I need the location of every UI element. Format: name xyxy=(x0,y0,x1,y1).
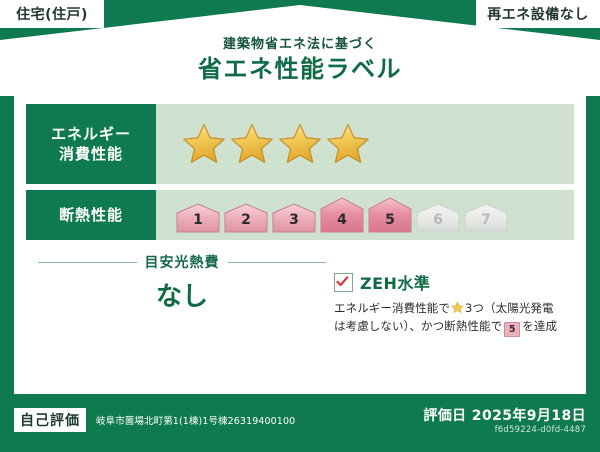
insulation-grade-2: 2 xyxy=(224,203,268,233)
insulation-performance-value: 1234567 xyxy=(156,190,574,240)
insulation-grade-1: 1 xyxy=(176,203,220,233)
insulation-grade-7: 7 xyxy=(464,203,508,233)
energy-key-line2: 消費性能 xyxy=(51,144,131,164)
zeh-description: エネルギー消費性能で3つ（太陽光発電 は考慮しない）、かつ断熱性能で5を達成 xyxy=(334,300,578,337)
badge-building-type-label: 住宅(住戸) xyxy=(16,4,88,24)
star-icon xyxy=(278,122,322,166)
star-icon-inline xyxy=(451,301,464,314)
insulation-key-label: 断熱性能 xyxy=(59,205,123,225)
zeh-title: ZEH水準 xyxy=(360,270,430,294)
insulation-grade-scale: 1234567 xyxy=(176,197,508,233)
insulation-grade-3: 3 xyxy=(272,203,316,233)
energy-key-line1: エネルギー xyxy=(51,124,131,144)
insulation-grade-label: 7 xyxy=(464,212,508,228)
insulation-grade-label: 4 xyxy=(320,212,364,228)
evaluation-date-value: 2025年9月18日 xyxy=(472,408,586,424)
insulation-grade-label: 5 xyxy=(368,212,412,228)
zeh-desc-star-count: 3つ（太陽光発電 xyxy=(465,301,554,315)
title-block: 建築物省エネ法に基づく 省エネ性能ラベル xyxy=(0,38,600,84)
star-rating xyxy=(182,122,370,166)
star-icon xyxy=(230,122,274,166)
badge-renewable-energy-label: 再エネ設備なし xyxy=(487,4,589,24)
heading-rule-right xyxy=(228,262,327,263)
insulation-grade-6: 6 xyxy=(416,203,460,233)
estimated-utility-cost-heading: 目安光熱費 xyxy=(38,252,326,272)
zeh-desc-part3: を達成 xyxy=(522,319,557,333)
badge-renewable-energy: 再エネ設備なし xyxy=(476,0,600,28)
insulation-grade-5: 5 xyxy=(368,197,412,233)
evaluation-date-label: 評価日 xyxy=(423,408,466,424)
insulation-performance-row: 断熱性能 1234567 xyxy=(26,190,574,240)
energy-performance-row: エネルギー 消費性能 xyxy=(26,104,574,184)
property-address: 岐阜市薗場北町第1(1棟)1号棟26319400100 xyxy=(96,413,295,427)
badge-building-type: 住宅(住戸) xyxy=(0,0,104,28)
energy-performance-value xyxy=(156,104,574,184)
insulation-performance-key: 断熱性能 xyxy=(26,190,156,240)
evaluation-type-badge: 自己評価 xyxy=(14,408,86,432)
energy-performance-label: 住宅(住戸) 再エネ設備なし 建築物省エネ法に基づく 省エネ性能ラベル エネルギ… xyxy=(0,0,600,452)
star-icon xyxy=(326,122,370,166)
estimated-utility-cost-value: なし xyxy=(38,276,326,313)
zeh-block: ZEH水準 エネルギー消費性能で3つ（太陽光発電 は考慮しない）、かつ断熱性能で… xyxy=(334,270,578,337)
label-id: f6d59224-d0fd-4487 xyxy=(495,425,586,435)
evaluation-date: 評価日 2025年9月18日 xyxy=(423,405,586,425)
insulation-grade-label: 1 xyxy=(176,212,220,228)
zeh-desc-part2: は考慮しない）、かつ断熱性能で xyxy=(334,319,502,333)
estimated-utility-cost-label: 目安光熱費 xyxy=(145,252,220,272)
insulation-grade-label: 3 xyxy=(272,212,316,228)
zeh-heading: ZEH水準 xyxy=(334,270,578,294)
zeh-checkbox[interactable] xyxy=(334,273,353,292)
main-panel: エネルギー 消費性能 断熱性能 1234567 目安光熱費 なし xyxy=(14,94,586,394)
insulation-grade-label: 2 xyxy=(224,212,268,228)
insulation-grade-4: 4 xyxy=(320,197,364,233)
zeh-desc-grade-chip: 5 xyxy=(504,322,520,337)
energy-performance-key: エネルギー 消費性能 xyxy=(26,104,156,184)
title-subtitle: 建築物省エネ法に基づく xyxy=(0,38,600,52)
zeh-desc-part1: エネルギー消費性能で xyxy=(334,301,450,315)
star-icon xyxy=(182,122,226,166)
title-main: 省エネ性能ラベル xyxy=(0,54,600,84)
heading-rule-left xyxy=(38,262,137,263)
footer: 自己評価 岐阜市薗場北町第1(1棟)1号棟26319400100 評価日 202… xyxy=(0,394,600,452)
check-icon xyxy=(336,275,349,288)
insulation-grade-label: 6 xyxy=(416,212,460,228)
